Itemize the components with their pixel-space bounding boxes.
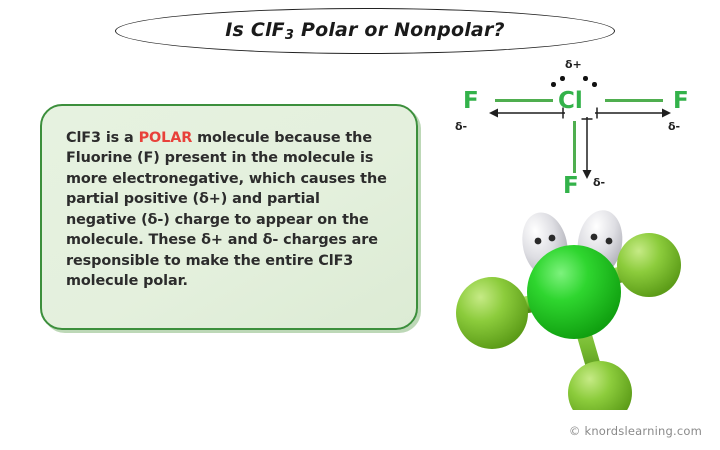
delta-plus-label: δ+ bbox=[565, 59, 582, 70]
lewis-atom-f-right: F bbox=[673, 90, 689, 113]
polar-keyword: POLAR bbox=[139, 130, 193, 146]
title-suffix: Polar or Nonpolar? bbox=[294, 19, 505, 41]
dipole-arrow-right bbox=[589, 105, 671, 121]
explanation-text: ClF3 is a POLAR molecule because the Flu… bbox=[66, 128, 390, 292]
explanation-box: ClF3 is a POLAR molecule because the Flu… bbox=[40, 104, 418, 330]
lewis-atom-f-bottom: F bbox=[563, 175, 579, 198]
atom-sphere-f-bottom bbox=[568, 361, 632, 410]
bond-cl-f-left bbox=[495, 99, 553, 102]
title-prefix: Is ClF bbox=[225, 19, 285, 41]
atom-sphere-f-left bbox=[456, 277, 528, 349]
explanation-part1: ClF3 is a bbox=[66, 130, 139, 146]
title-banner: Is ClF3 Polar or Nonpolar? bbox=[115, 8, 615, 54]
lewis-atom-f-left: F bbox=[463, 90, 479, 113]
atom-sphere-f-upper-right bbox=[617, 233, 681, 297]
explanation-part2: molecule because the Fluorine (F) presen… bbox=[66, 130, 387, 289]
delta-minus-label-right: δ- bbox=[668, 121, 680, 132]
dipole-arrow-left bbox=[489, 105, 571, 121]
bond-cl-f-bottom bbox=[573, 121, 576, 173]
lewis-structure-diagram: F Cl F F δ+ δ- δ- δ- bbox=[455, 55, 705, 205]
lone-pair-dot bbox=[551, 82, 556, 87]
lone-pair-dot bbox=[592, 82, 597, 87]
atom-sphere-cl-central bbox=[527, 245, 621, 339]
lone-pair-dot bbox=[583, 76, 588, 81]
molecule-3d-model bbox=[432, 205, 704, 410]
page-title: Is ClF3 Polar or Nonpolar? bbox=[115, 19, 615, 43]
delta-minus-label-left: δ- bbox=[455, 121, 467, 132]
title-subscript: 3 bbox=[285, 28, 294, 43]
dipole-arrow-bottom bbox=[579, 111, 595, 179]
bond-cl-f-right bbox=[605, 99, 663, 102]
footer-credit: © knordslearning.com bbox=[0, 424, 702, 438]
lone-pair-dot bbox=[560, 76, 565, 81]
